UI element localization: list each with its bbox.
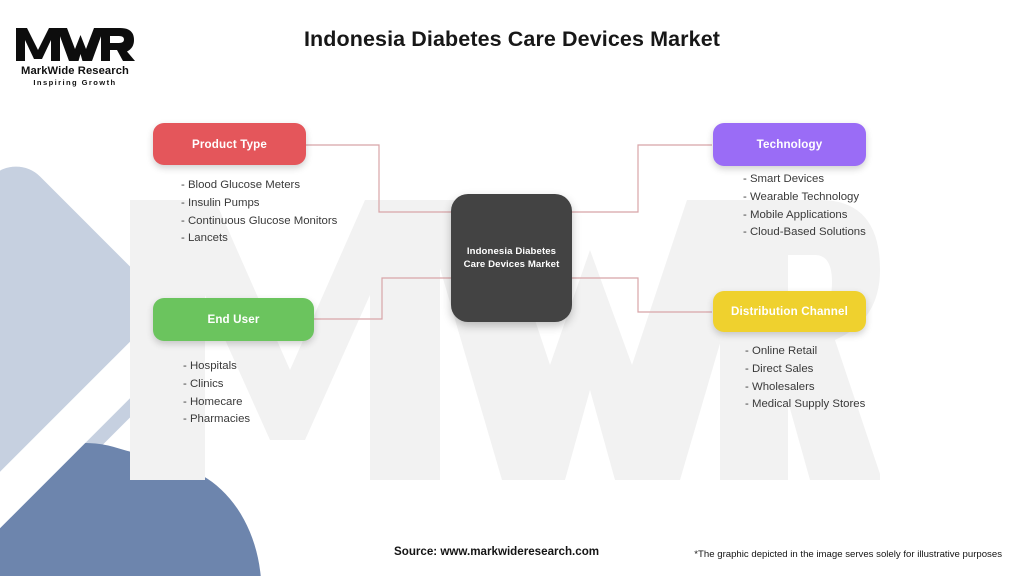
node-product-type[interactable]: Product Type bbox=[153, 123, 306, 165]
infographic-canvas: MarkWide Research Inspiring Growth Indon… bbox=[0, 0, 1024, 576]
list-item: - Online Retail bbox=[745, 343, 865, 361]
list-distribution-channel: - Online Retail - Direct Sales - Wholesa… bbox=[745, 343, 865, 414]
list-item: - Smart Devices bbox=[743, 171, 866, 189]
center-node[interactable]: Indonesia Diabetes Care Devices Market bbox=[451, 194, 572, 322]
list-item: - Pharmacies bbox=[183, 411, 250, 429]
list-item: - Wholesalers bbox=[745, 379, 865, 397]
list-item: - Homecare bbox=[183, 394, 250, 412]
node-technology[interactable]: Technology bbox=[713, 123, 866, 166]
node-product-type-label: Product Type bbox=[192, 138, 267, 151]
node-distribution-channel-label: Distribution Channel bbox=[731, 305, 848, 318]
node-end-user[interactable]: End User bbox=[153, 298, 314, 341]
list-item: - Medical Supply Stores bbox=[745, 396, 865, 414]
list-item: - Insulin Pumps bbox=[181, 195, 337, 213]
list-item: - Clinics bbox=[183, 376, 250, 394]
list-item: - Cloud-Based Solutions bbox=[743, 224, 866, 242]
connector-technology bbox=[571, 145, 712, 212]
list-item: - Continuous Glucose Monitors bbox=[181, 213, 337, 231]
list-item: - Lancets bbox=[181, 230, 337, 248]
list-item: - Direct Sales bbox=[745, 361, 865, 379]
list-item: - Wearable Technology bbox=[743, 189, 866, 207]
node-end-user-label: End User bbox=[207, 313, 259, 326]
node-distribution-channel[interactable]: Distribution Channel bbox=[713, 291, 866, 332]
connector-distribution-channel bbox=[571, 278, 712, 312]
list-technology: - Smart Devices - Wearable Technology - … bbox=[743, 171, 866, 242]
connector-end-user bbox=[314, 278, 452, 319]
list-item: - Hospitals bbox=[183, 358, 250, 376]
node-technology-label: Technology bbox=[757, 138, 823, 151]
center-node-line2: Care Devices Market bbox=[464, 258, 560, 272]
disclaimer-text: *The graphic depicted in the image serve… bbox=[694, 549, 1002, 560]
list-item: - Mobile Applications bbox=[743, 207, 866, 225]
list-product-type: - Blood Glucose Meters - Insulin Pumps -… bbox=[181, 177, 337, 248]
center-node-line1: Indonesia Diabetes bbox=[467, 245, 556, 259]
source-text: Source: www.markwideresearch.com bbox=[394, 545, 599, 558]
list-end-user: - Hospitals - Clinics - Homecare - Pharm… bbox=[183, 358, 250, 429]
list-item: - Blood Glucose Meters bbox=[181, 177, 337, 195]
